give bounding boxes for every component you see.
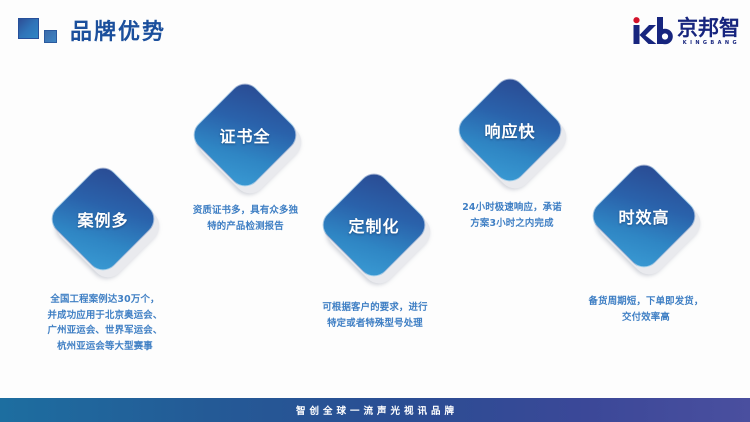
page-title: 品牌优势 xyxy=(70,14,166,46)
feature-caption-2: 资质证书多，具有众多独 特的产品检测报告 xyxy=(163,203,328,234)
feature-caption-1: 全国工程案例达30万个， 并成功应用于北京奥运会、 广州亚运会、世界军运会、 杭… xyxy=(15,292,195,354)
feature-caption-3: 可根据客户的要求，进行 特定或者特殊型号处理 xyxy=(291,300,459,331)
feature-label-2: 证书全 xyxy=(204,94,286,176)
logo-english-name: KINGBANG xyxy=(683,40,740,46)
feature-diamond-4[interactable]: 响应快 xyxy=(469,89,551,171)
feature-diamond-3[interactable]: 定制化 xyxy=(333,184,415,266)
feature-label-5: 时效高 xyxy=(603,175,685,257)
logo-wordmark: 京邦智 KINGBANG xyxy=(674,18,740,46)
feature-diamond-5[interactable]: 时效高 xyxy=(603,175,685,257)
feature-diamond-2[interactable]: 证书全 xyxy=(204,94,286,176)
kb-logo-icon xyxy=(628,16,674,46)
feature-label-4: 响应快 xyxy=(469,89,551,171)
logo-chinese-name: 京邦智 xyxy=(677,18,740,39)
feature-label-1: 案例多 xyxy=(62,178,144,260)
brand-logo: 京邦智 KINGBANG xyxy=(628,14,740,46)
footer-slogan: 智创全球一流声光视讯品牌 xyxy=(292,403,458,417)
slide-footer: 智创全球一流声光视讯品牌 xyxy=(0,398,750,422)
slide-canvas: 品牌优势 京邦智 KINGBANG 案例多 全国工程案例达30万个， 并成功应用… xyxy=(0,0,750,422)
feature-diamond-1[interactable]: 案例多 xyxy=(62,178,144,260)
feature-label-3: 定制化 xyxy=(333,184,415,266)
blue-square-small-icon xyxy=(44,30,57,43)
slide-header: 品牌优势 京邦智 KINGBANG xyxy=(0,0,750,58)
blue-square-icon xyxy=(18,18,39,39)
feature-caption-5: 备货周期短，下单即发货， 交付效率高 xyxy=(557,294,735,325)
feature-caption-4: 24小时极速响应，承诺 方案3小时之内完成 xyxy=(428,200,596,231)
